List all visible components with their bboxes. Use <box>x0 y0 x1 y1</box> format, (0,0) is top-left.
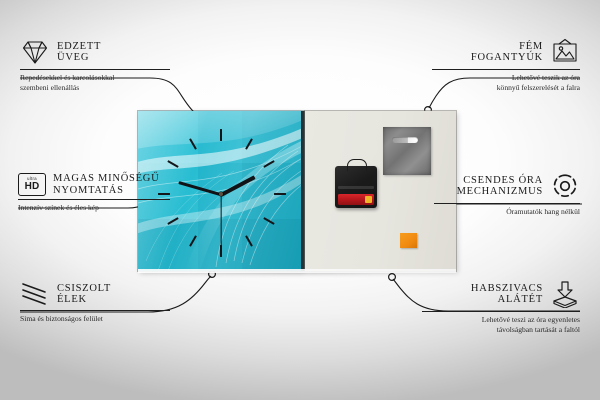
feature-rule <box>20 69 170 70</box>
clock-hub <box>219 192 223 196</box>
quartz-clock-mechanism <box>335 166 377 208</box>
infographic-canvas: EDZETT ÜVEG Repedésekkel és karcolásokka… <box>0 0 600 400</box>
second-hand <box>220 195 221 251</box>
feature-title: CSISZOLT ÉLEK <box>57 283 111 306</box>
feature-fem-foganytuk: FÉM FOGANTYÚK Lehetővé teszik az óra kön… <box>432 38 580 92</box>
hanger-loop <box>347 159 367 171</box>
feature-subtitle: Lehetővé teszik az óra könnyű felszerelé… <box>432 73 580 92</box>
feature-rule <box>422 311 580 312</box>
gear-icon <box>550 172 580 200</box>
feature-title: EDZETT ÜVEG <box>57 41 101 64</box>
feature-subtitle: Intenzív színek és éles kép <box>18 203 170 213</box>
product-base-reflection <box>138 269 456 273</box>
feature-title: HABSZIVACS ALÁTÉT <box>471 283 543 306</box>
ultra-hd-icon: ultra HD <box>18 173 46 196</box>
diamond-icon <box>20 38 50 66</box>
polished-edges-icon <box>20 281 50 307</box>
hanger-slot <box>392 137 418 143</box>
feature-title: CSENDES ÓRA MECHANIZMUS <box>457 175 543 198</box>
feature-rule <box>20 310 170 311</box>
feature-subtitle: Repedésekkel és karcolásokkal szembeni e… <box>20 73 170 92</box>
product-image <box>138 111 456 271</box>
feature-subtitle: Sima és biztonságos felület <box>20 314 170 324</box>
foam-pad-icon <box>550 280 580 308</box>
aa-battery <box>338 194 374 205</box>
feature-rule <box>434 203 580 204</box>
mechanism-groove <box>338 186 374 189</box>
feature-edzett-uveg: EDZETT ÜVEG Repedésekkel és karcolásokka… <box>20 38 170 92</box>
metal-wall-hanger <box>383 127 431 175</box>
battery-terminal <box>365 196 372 203</box>
feature-rule <box>432 69 580 70</box>
tick-3 <box>274 193 286 195</box>
feature-habszivacs-alatet: HABSZIVACS ALÁTÉT Lehetővé teszi az óra … <box>422 280 580 334</box>
feature-csendes-ora-mechanizmus: CSENDES ÓRA MECHANIZMUS Óramutatók hang … <box>434 172 580 217</box>
feature-rule <box>18 199 170 200</box>
wall-hanger-icon <box>550 38 580 66</box>
ultra-hd-main-label: HD <box>25 182 40 192</box>
foam-spacer-pad <box>400 233 417 248</box>
feature-subtitle: Óramutatók hang nélkül <box>434 207 580 217</box>
tick-12 <box>220 129 222 141</box>
feature-subtitle: Lehetővé teszi az óra egyenletes távolsá… <box>422 315 580 334</box>
feature-title: FÉM FOGANTYÚK <box>471 41 543 64</box>
feature-title: MAGAS MINŐSÉGŰ NYOMTATÁS <box>53 173 159 196</box>
feature-magas-minosegu-nyomtatas: ultra HD MAGAS MINŐSÉGŰ NYOMTATÁS Intenz… <box>18 173 170 213</box>
feature-csiszolt-elek: CSISZOLT ÉLEK Sima és biztonságos felüle… <box>20 281 170 324</box>
